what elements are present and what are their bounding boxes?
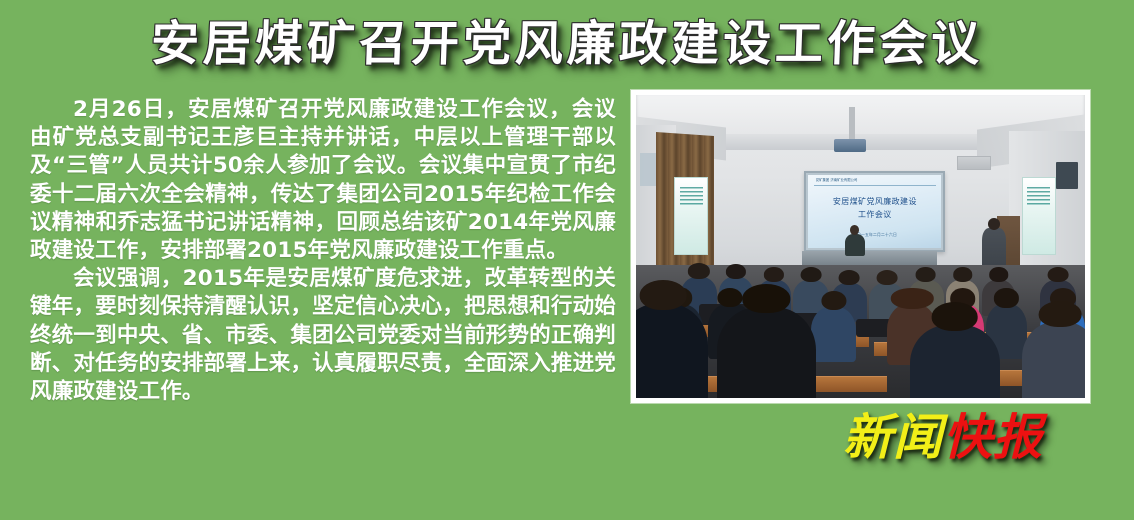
attendee — [811, 307, 856, 362]
attendee-head — [718, 288, 743, 308]
attendee-head — [915, 267, 936, 282]
slide-title-line-2: 工作会议 — [808, 208, 941, 221]
attendee-head — [726, 264, 746, 279]
projector-mount — [849, 107, 854, 140]
attendee-head — [839, 270, 860, 285]
attendee-head — [742, 284, 789, 313]
attendee-head — [994, 288, 1018, 308]
wall-poster-right — [1022, 177, 1056, 255]
attendee-head — [1048, 267, 1069, 282]
attendee-head — [989, 267, 1009, 282]
slide-date: 二〇一五年二月二十六日 — [808, 232, 941, 238]
attendee-head — [821, 291, 846, 311]
slide-header: 兖矿集团 济南矿业有限公司 — [814, 178, 936, 186]
meeting-photo-frame: 兖矿集团 济南矿业有限公司 安居煤矿党风廉政建设 工作会议 二〇一五年二月二十六… — [631, 90, 1090, 403]
attendee-foreground — [1022, 322, 1085, 398]
projection-screen-frame: 兖矿集团 济南矿业有限公司 安居煤矿党风廉政建设 工作会议 二〇一五年二月二十六… — [804, 171, 945, 252]
attendee-head — [953, 267, 973, 282]
slide-header-text: 兖矿集团 济南矿业有限公司 — [814, 178, 936, 183]
ceiling-projector — [834, 139, 865, 152]
badge-text-yellow: 新闻 — [843, 409, 943, 466]
attendee-head — [877, 270, 898, 285]
air-vent — [957, 156, 990, 170]
badge-text-red: 快报 — [943, 409, 1043, 466]
slide-title-line-1: 安居煤矿党风廉政建设 — [808, 195, 941, 208]
attendee-head — [640, 280, 687, 310]
projection-screen: 兖矿集团 济南矿业有限公司 安居煤矿党风廉政建设 工作会议 二〇一五年二月二十六… — [808, 175, 941, 248]
attendee-head — [801, 267, 822, 282]
news-banner-page: 安居煤矿召开党风廉政建设工作会议 2月26日，安居煤矿召开党风廉政建设工作会议，… — [0, 0, 1134, 520]
page-title-banner: 安居煤矿召开党风廉政建设工作会议 — [0, 0, 1134, 88]
attendee-foreground — [717, 307, 816, 398]
attendee-foreground — [636, 304, 708, 398]
article-paragraph-1: 2月26日，安居煤矿召开党风廉政建设工作会议，会议由矿党总支副书记王彦巨主持并讲… — [30, 96, 616, 265]
seated-speaker — [845, 234, 865, 255]
meeting-photo: 兖矿集团 济南矿业有限公司 安居煤矿党风廉政建设 工作会议 二〇一五年二月二十六… — [636, 95, 1085, 398]
attendee-head — [1039, 301, 1082, 327]
wall-monitor — [1056, 162, 1078, 189]
attendee-head — [891, 288, 933, 309]
attendee-head — [688, 263, 710, 279]
wall-poster-left — [674, 177, 708, 255]
article-paragraph-2: 会议强调，2015年是安居煤矿度危求进，改革转型的关键年，要时刻保持清醒认识，坚… — [30, 265, 616, 406]
attendee-foreground — [910, 325, 1000, 398]
slide-title: 安居煤矿党风廉政建设 工作会议 — [808, 195, 941, 221]
page-title: 安居煤矿召开党风廉政建设工作会议 — [150, 20, 984, 68]
news-flash-badge: 新闻快报 — [843, 413, 1043, 462]
attendee-head — [764, 267, 784, 282]
attendee-head — [931, 302, 978, 331]
article-body: 2月26日，安居煤矿召开党风廉政建设工作会议，会议由矿党总支副书记王彦巨主持并讲… — [30, 96, 616, 406]
